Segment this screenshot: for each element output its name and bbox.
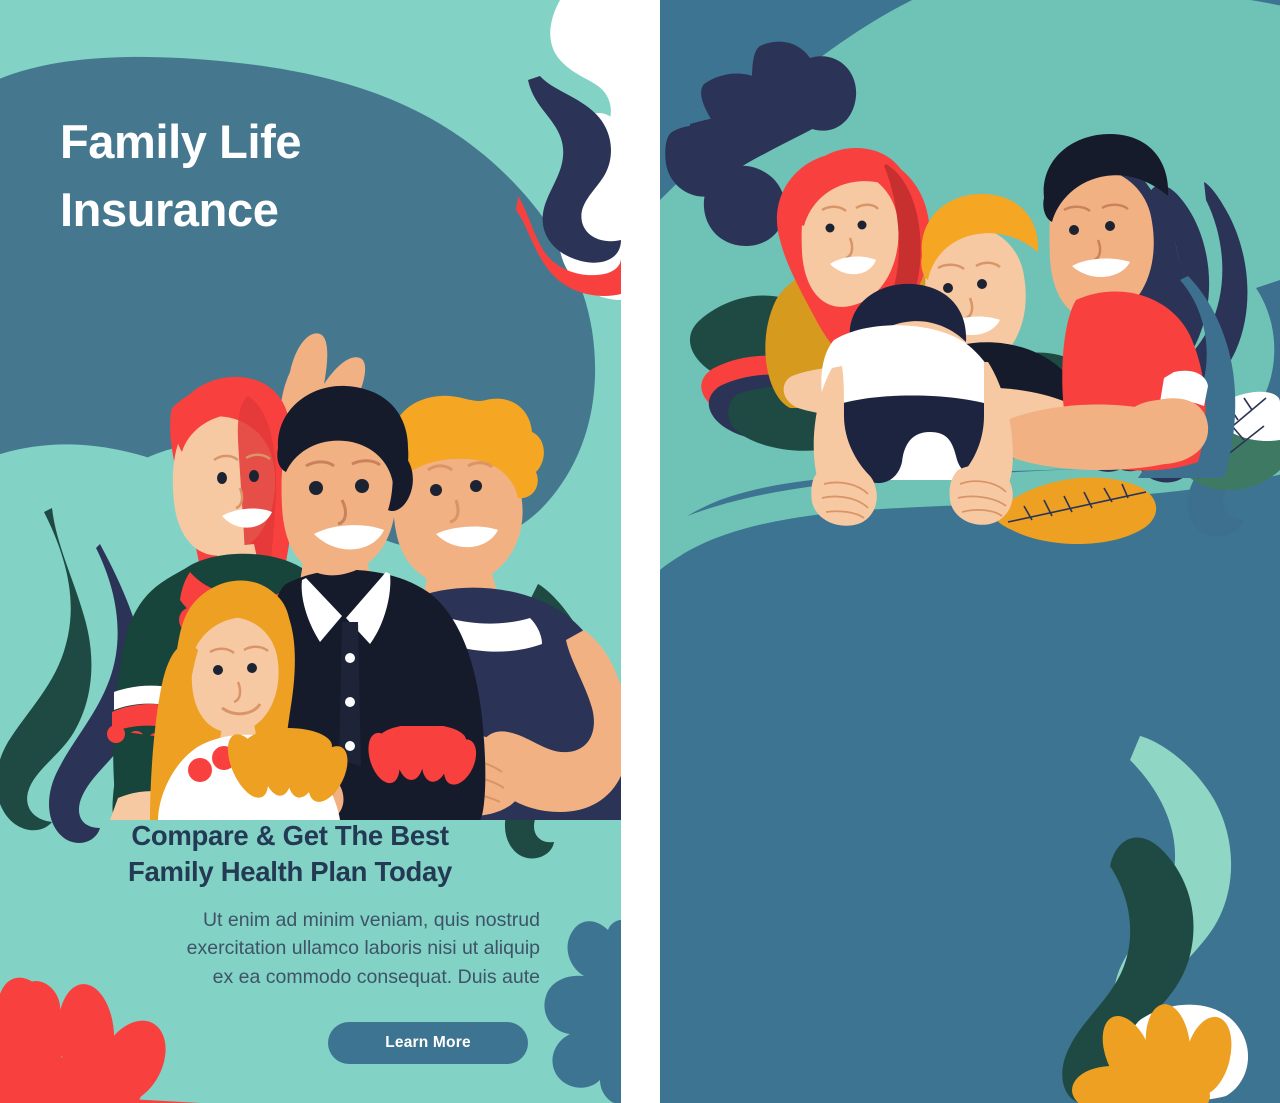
left-subheading: Compare & Get The Best Family Health Pla… — [40, 818, 540, 891]
left-page-title: Family Life Insurance — [60, 108, 540, 243]
family-life-insurance-banner: Family Life Insurance Compare & Get The … — [0, 0, 621, 1103]
boy-right-hand — [949, 465, 1012, 525]
left-title-line-1: Family Life — [60, 108, 540, 176]
poster-pair-canvas: Family Life Insurance Compare & Get The … — [0, 0, 1280, 1103]
left-body-text: Ut enim ad minim veniam, quis nostrud ex… — [180, 906, 540, 991]
left-title-line-2: Insurance — [60, 176, 540, 244]
left-sub-line-2: Family Health Plan Today — [40, 854, 540, 890]
front-boy-lower-body — [810, 320, 1110, 530]
family-health-insurance-plans-banner: Family Health Insurance Plans Buy or Ren… — [660, 0, 1280, 1103]
red-flower-spray — [363, 726, 483, 790]
left-learn-more-button[interactable]: Learn More — [328, 1022, 528, 1064]
yellow-flower-spray — [220, 726, 356, 808]
flower-sprays-bottom — [200, 726, 520, 816]
left-sub-line-1: Compare & Get The Best — [40, 818, 540, 854]
